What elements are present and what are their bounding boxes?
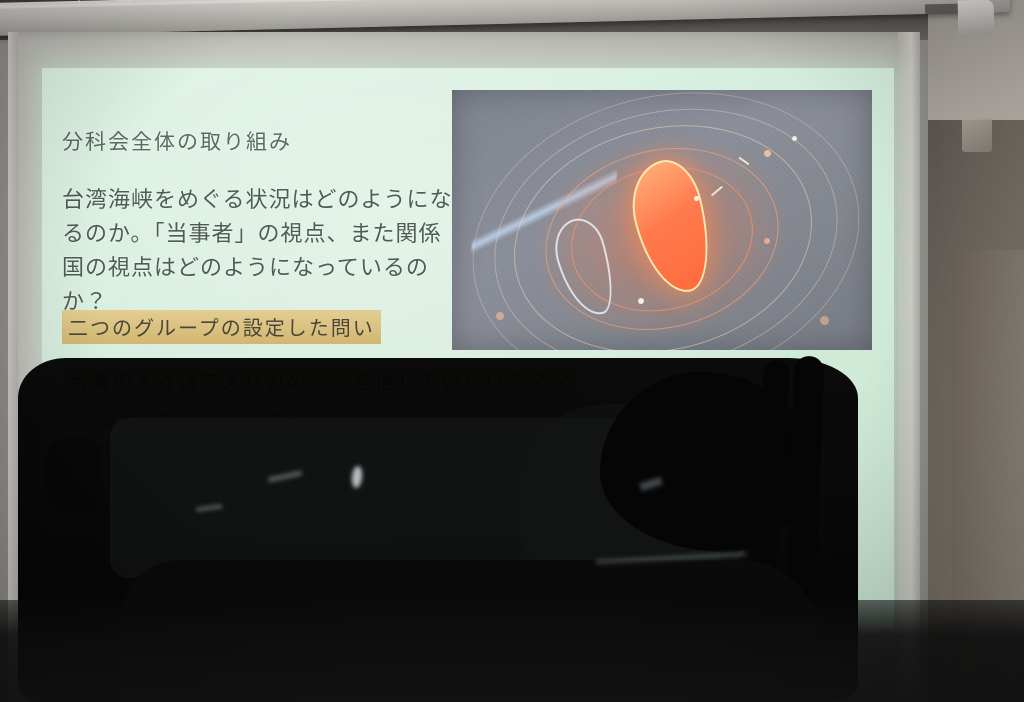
spark-dot-6 — [496, 312, 504, 320]
highlight-bar-1-text: 二つのグループの設定した問い — [62, 310, 381, 344]
spark-dot-5 — [638, 298, 644, 304]
screen-roller-label — [925, 4, 959, 15]
spark-dot-2 — [792, 136, 797, 141]
spark-dot-7 — [820, 316, 829, 325]
spark-dot-4 — [694, 196, 699, 201]
screen-roller-end-cap — [958, 0, 995, 34]
highlight-bar-1: 二つのグループの設定した問い — [62, 310, 381, 344]
spark-dot-3 — [764, 238, 770, 244]
spark-dot-1 — [764, 150, 771, 157]
foreground-bottom-shadow — [0, 600, 1024, 702]
slide-lead-paragraph: 台湾海峡をめぐる状況はどのようになるのか。「当事者」の視点、また関係国の視点はど… — [62, 184, 462, 320]
photo-scene: 分科会全体の取り組み 台湾海峡をめぐる状況はどのようになるのか。「当事者」の視点… — [0, 0, 1024, 702]
wall-fixture — [962, 118, 992, 152]
foreground-left-knob — [44, 438, 100, 516]
slide-title: 分科会全体の取り組み — [62, 126, 292, 156]
slide-picture — [452, 90, 872, 350]
